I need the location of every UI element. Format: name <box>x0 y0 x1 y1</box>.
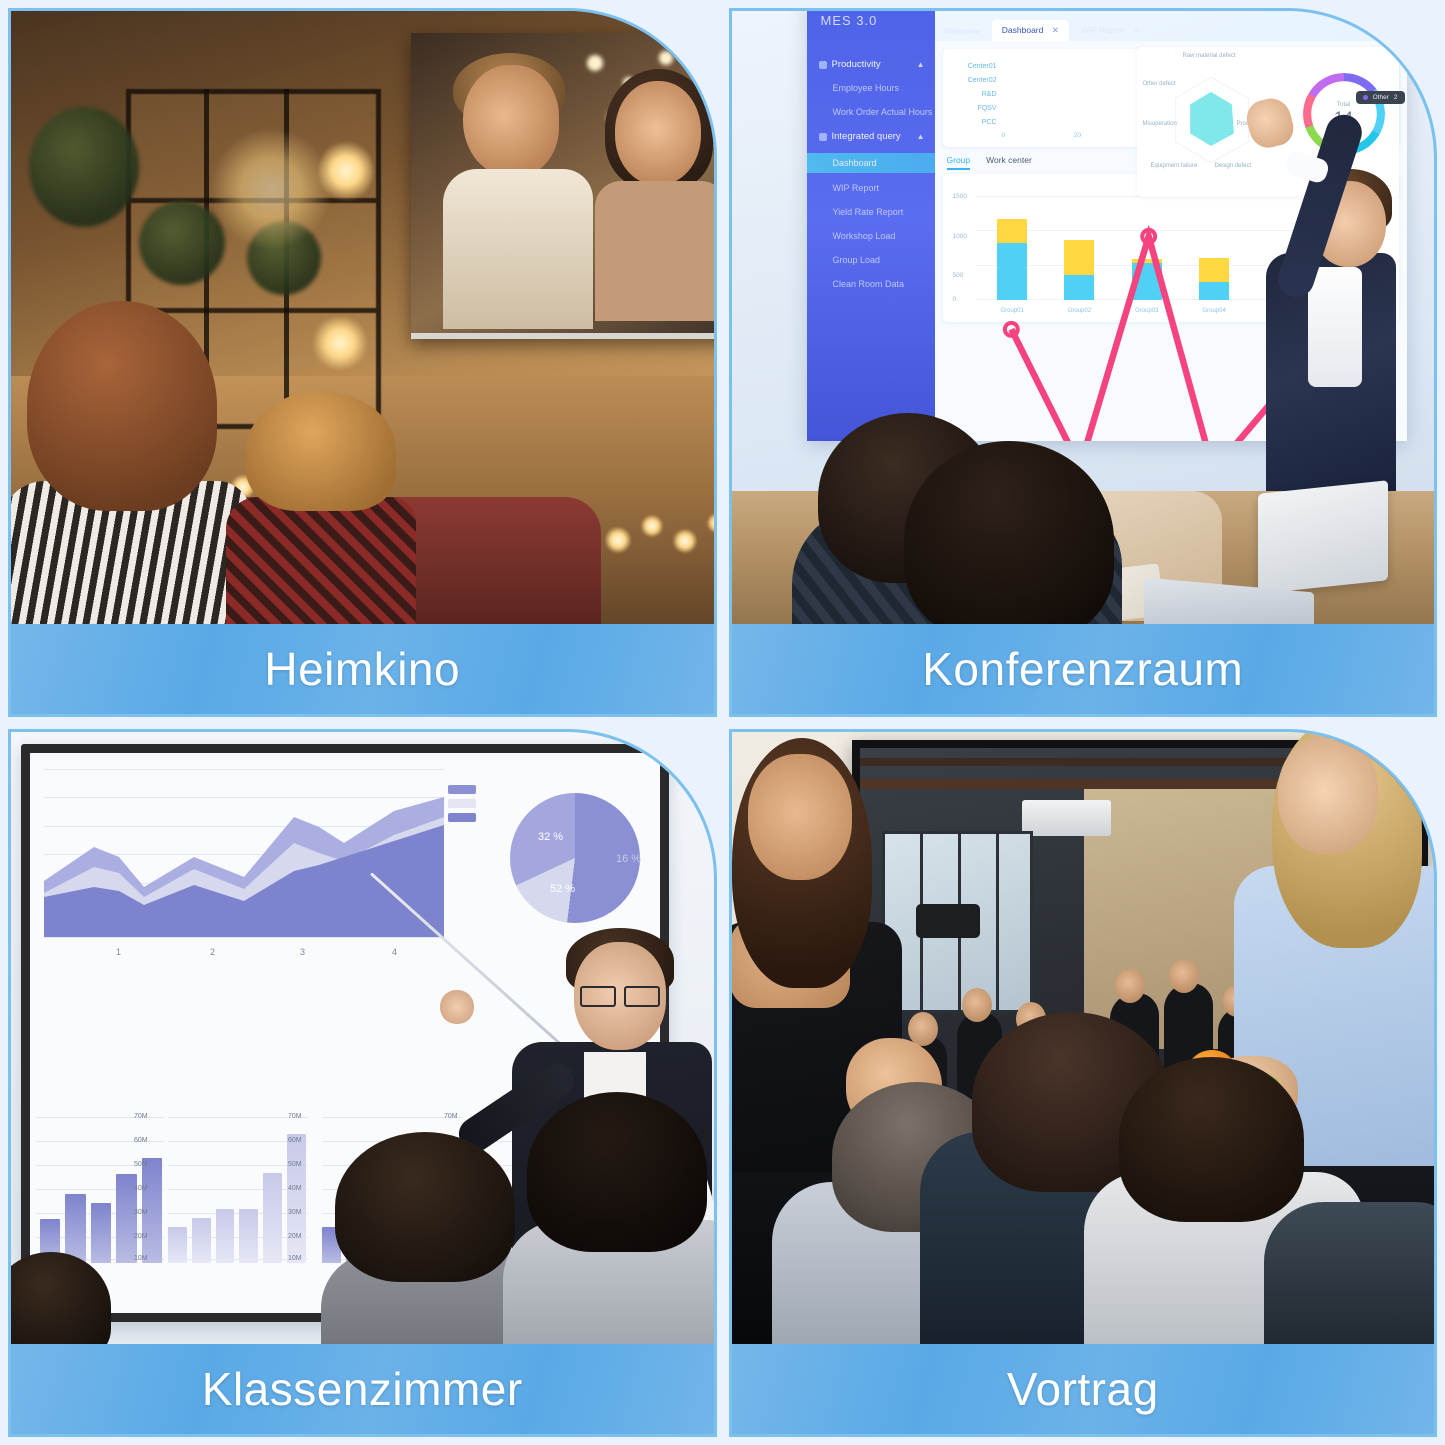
group-icon <box>819 133 827 141</box>
y-tick: 20M <box>134 1233 148 1240</box>
photo-classroom: 1 2 3 4 32 % 16 % 52 % <box>11 732 714 1362</box>
panel-caption-home-cinema: Heimkino <box>11 624 714 714</box>
lamp-glow <box>211 129 331 249</box>
use-case-grid: Heimkino MES 3.0 Productivity ▲ Employee… <box>0 0 1445 1445</box>
x-tick: 3 <box>300 947 305 957</box>
audience <box>732 1032 1435 1362</box>
y-tick: 1000 <box>953 233 967 240</box>
y-tick: 70M <box>134 1113 148 1120</box>
hbar-label: R&D <box>953 91 997 98</box>
viewer-adult <box>11 301 261 641</box>
pie-label-32: 32 % <box>538 831 563 843</box>
panel-caption-lecture: Vortrag <box>732 1344 1435 1434</box>
x-tick: 0 <box>1002 132 1006 139</box>
y-tick: 40M <box>288 1185 302 1192</box>
y-tick: 70M <box>288 1113 302 1120</box>
caption-text: Klassenzimmer <box>202 1362 523 1416</box>
hbar-label: Center02 <box>953 77 997 84</box>
projection-screen <box>411 33 714 339</box>
close-icon[interactable]: ✕ <box>1052 25 1059 35</box>
sidebar-item-group-load[interactable]: Group Load <box>833 255 881 265</box>
caption-text: Konferenzraum <box>922 642 1243 696</box>
sidebar-group-label: Productivity <box>832 59 881 70</box>
panel-classroom[interactable]: 1 2 3 4 32 % 16 % 52 % <box>8 729 717 1438</box>
plant-icon <box>139 201 225 285</box>
x-tick: 1 <box>116 947 121 957</box>
y-tick: 1500 <box>953 193 967 200</box>
y-tick: 50M <box>134 1161 148 1168</box>
caption-text: Vortrag <box>1007 1362 1159 1416</box>
x-tick: Group02 <box>1068 308 1091 314</box>
y-tick: 10M <box>288 1255 302 1262</box>
sidebar-item-wip-report[interactable]: WIP Report <box>833 183 879 193</box>
y-tick: 20M <box>288 1233 302 1240</box>
radar-label: Other defect <box>1143 81 1176 87</box>
subtab-group[interactable]: Group <box>947 155 971 170</box>
caption-text: Heimkino <box>264 642 460 696</box>
air-conditioner <box>1022 800 1112 836</box>
panel-conference-room[interactable]: MES 3.0 Productivity ▲ Employee Hours Wo… <box>729 8 1438 717</box>
panel-home-cinema[interactable]: Heimkino <box>8 8 717 717</box>
area-chart-legend <box>448 785 476 827</box>
x-tick: Group01 <box>1000 308 1023 314</box>
radar-label: Raw material defect <box>1183 53 1236 59</box>
y-tick: 30M <box>288 1209 302 1216</box>
x-tick: 4 <box>392 947 397 957</box>
x-tick: Group04 <box>1202 308 1225 314</box>
sidebar-group-productivity[interactable]: Productivity ▲ <box>819 59 925 70</box>
sidebar-item-clean-room-data[interactable]: Clean Room Data <box>833 279 905 289</box>
panel-lecture[interactable]: Vortrag <box>729 729 1438 1438</box>
tooltip-dot-icon <box>1363 95 1368 100</box>
tooltip-series: Other <box>1373 94 1389 101</box>
presenter-pointing <box>1246 121 1396 501</box>
plant-icon <box>29 107 139 227</box>
y-tick: 30M <box>134 1209 148 1216</box>
x-tick: 20 <box>1074 132 1081 139</box>
photo-lecture <box>732 732 1435 1362</box>
viewer-child <box>226 391 426 641</box>
movie-character-man <box>449 61 589 311</box>
projected-movie-image <box>411 33 714 333</box>
eyeglasses-icon <box>580 986 660 1003</box>
hbar-label: Center01 <box>953 63 997 70</box>
attendee-head <box>904 441 1114 641</box>
dashboard-tabbar[interactable]: Welcome Dashboard ✕ WIP Report ✕ <box>935 17 1151 41</box>
area-chart: 1 2 3 4 <box>44 769 444 937</box>
dashboard-sidebar[interactable]: MES 3.0 Productivity ▲ Employee Hours Wo… <box>807 11 935 441</box>
sidebar-item-work-order-actual-hours[interactable]: Work Order Actual Hours <box>833 107 933 117</box>
laptop <box>1258 480 1388 594</box>
panel-caption-conference-room: Konferenzraum <box>732 624 1435 714</box>
pie-label-16: 16 % <box>616 853 641 865</box>
hbar-label: FQSV <box>953 105 997 112</box>
y-tick: 70M <box>444 1113 458 1120</box>
app-title: MES 3.0 <box>821 13 878 28</box>
tab-welcome[interactable]: Welcome <box>935 21 990 41</box>
sidebar-item-employee-hours[interactable]: Employee Hours <box>833 83 900 93</box>
y-tick: 500 <box>953 272 964 279</box>
hbar-label: PCC <box>953 119 997 126</box>
sidebar-group-integrated-query[interactable]: Integrated query ▲ <box>819 131 925 142</box>
donut-total-label: Total <box>1337 101 1351 108</box>
sidebar-item-yield-rate-report[interactable]: Yield Rate Report <box>833 207 904 217</box>
y-tick: 40M <box>134 1185 148 1192</box>
x-tick: Group03 <box>1135 308 1158 314</box>
tab-label: Dashboard <box>1002 25 1044 35</box>
chevron-up-icon: ▲ <box>917 132 925 141</box>
pie-label-52: 52 % <box>550 883 575 895</box>
photo-home-cinema <box>11 11 714 641</box>
tooltip-value: 2 <box>1394 94 1398 101</box>
movie-character-woman <box>589 75 714 315</box>
x-tick: 2 <box>210 947 215 957</box>
y-tick: 0 <box>953 296 957 303</box>
photo-conference-room: MES 3.0 Productivity ▲ Employee Hours Wo… <box>732 11 1435 641</box>
chart-tooltip: Other 2 <box>1356 91 1405 104</box>
tab-dashboard[interactable]: Dashboard ✕ <box>992 20 1069 41</box>
radar-label: Equipment failure <box>1151 163 1198 169</box>
sidebar-item-workshop-load[interactable]: Workshop Load <box>833 231 896 241</box>
y-tick: 60M <box>134 1137 148 1144</box>
tab-label: WIP Report <box>1081 25 1125 35</box>
student <box>509 1092 714 1362</box>
living-room-background <box>11 11 714 641</box>
close-icon[interactable]: ✕ <box>1133 25 1140 35</box>
lamp-glow <box>311 317 369 369</box>
panel-caption-classroom: Klassenzimmer <box>11 1344 714 1434</box>
y-tick: 60M <box>288 1137 302 1144</box>
group-icon <box>819 61 827 69</box>
sidebar-item-dashboard[interactable]: Dashboard <box>807 153 935 173</box>
y-tick: 50M <box>288 1161 302 1168</box>
radar-label: Misoperation <box>1143 121 1177 127</box>
tab-wip-report[interactable]: WIP Report ✕ <box>1071 20 1150 41</box>
chevron-up-icon: ▲ <box>917 60 925 69</box>
sidebar-group-label: Integrated query <box>832 131 901 142</box>
mini-bar-chart-2: 70M 60M 50M 40M 30M 20M 10M <box>138 1109 308 1269</box>
tab-label: Welcome <box>945 26 980 36</box>
subtab-work-center[interactable]: Work center <box>986 155 1032 170</box>
